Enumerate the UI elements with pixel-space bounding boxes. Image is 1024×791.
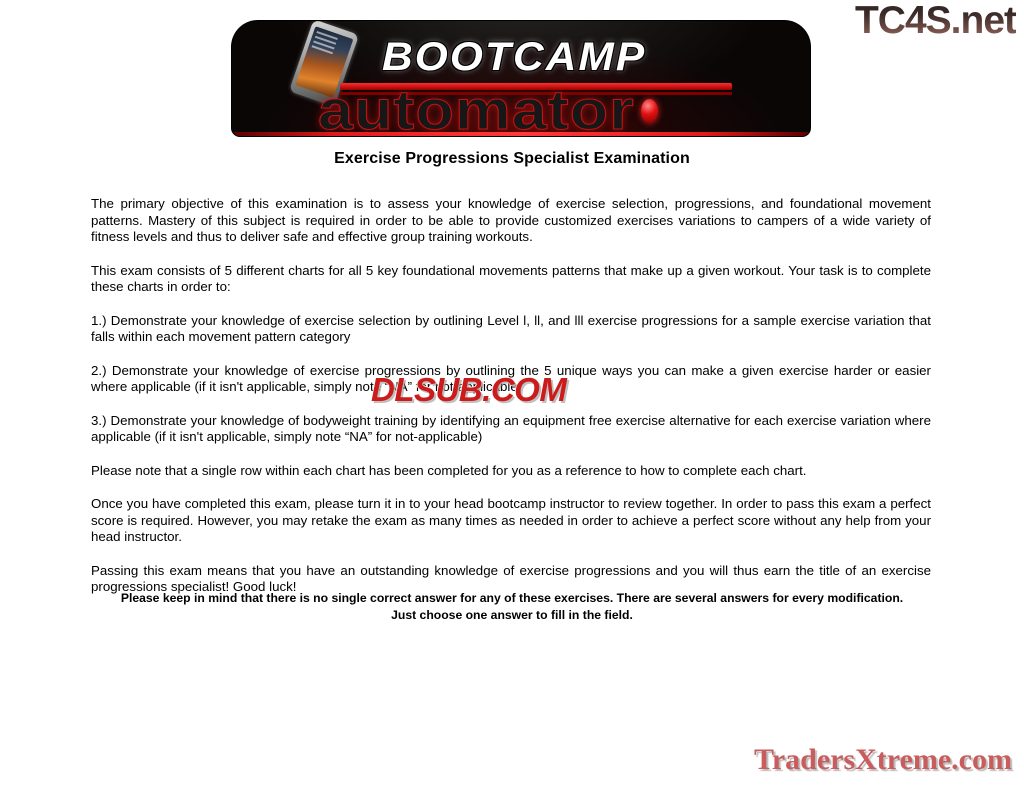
red-orb-icon: [641, 99, 658, 123]
tc4s-watermark: TC4S.net: [855, 0, 1016, 44]
page-title: Exercise Progressions Specialist Examina…: [0, 150, 1024, 168]
paragraph-task-1: 1.) Demonstrate your knowledge of exerci…: [91, 313, 931, 346]
banner-title-automator: automator: [318, 77, 635, 136]
banner-title-bootcamp: BOOTCAMP: [382, 35, 646, 80]
dlsub-watermark: DLSUB.COM: [371, 373, 566, 407]
paragraph-submission: Once you have completed this exam, pleas…: [91, 496, 931, 546]
paragraph-sample-row: Please note that a single row within eac…: [91, 463, 931, 480]
banner-bottom-rule: [232, 132, 810, 136]
bootcamp-automator-banner: BOOTCAMP automator TM powered by W●RK●UT…: [232, 21, 810, 136]
closing-note: Please keep in mind that there is no sin…: [112, 590, 912, 624]
paragraph-task-3: 3.) Demonstrate your knowledge of bodywe…: [91, 413, 931, 446]
paragraph-objective: The primary objective of this examinatio…: [91, 196, 931, 246]
paragraph-exam-overview: This exam consists of 5 different charts…: [91, 263, 931, 296]
tradersxtreme-watermark: TradersXtreme.com: [754, 743, 1012, 777]
